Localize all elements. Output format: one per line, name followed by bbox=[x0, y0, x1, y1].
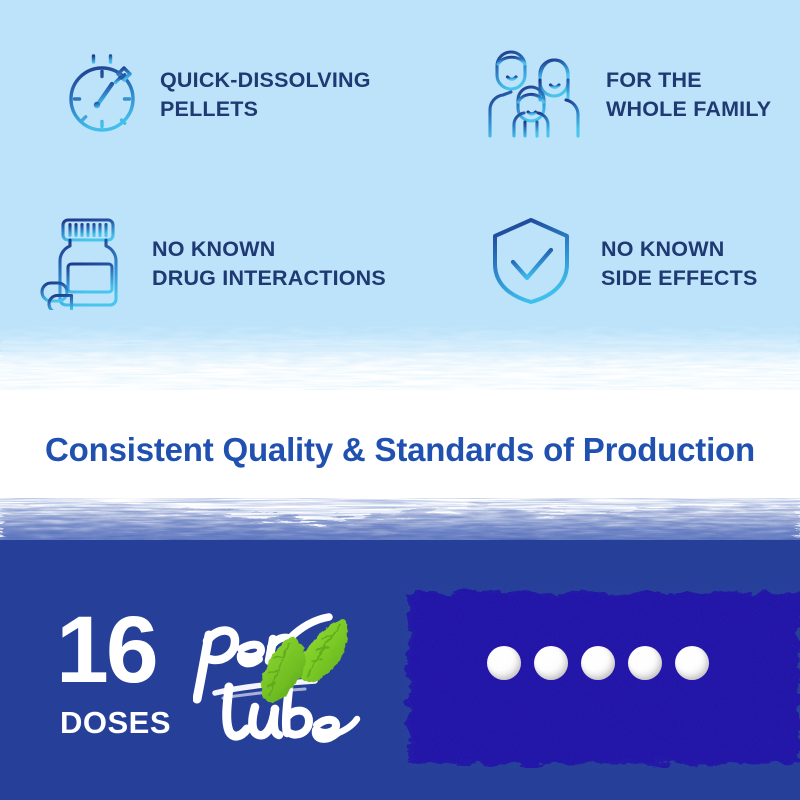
dose-word-label: DOSES bbox=[60, 705, 171, 741]
feature-drug-interactions: NO KNOWN DRUG INTERACTIONS bbox=[36, 212, 386, 315]
feature-label: FOR THE WHOLE FAMILY bbox=[606, 66, 771, 123]
pellet bbox=[487, 646, 521, 680]
shield-check-icon bbox=[489, 214, 573, 313]
leaf-icon bbox=[255, 615, 351, 707]
feature-label: NO KNOWN DRUG INTERACTIONS bbox=[152, 235, 386, 292]
family-icon bbox=[484, 44, 584, 145]
feature-label: NO KNOWN SIDE EFFECTS bbox=[601, 235, 758, 292]
feature-label: QUICK-DISSOLVING PELLETS bbox=[160, 66, 371, 123]
features-panel: QUICK-DISSOLVING PELLETS bbox=[0, 0, 800, 352]
pellet bbox=[534, 646, 568, 680]
dose-block: 16 DOSES bbox=[56, 605, 396, 755]
dose-count: 16 bbox=[56, 605, 156, 695]
pellet bbox=[628, 646, 662, 680]
watercolor-edge-top bbox=[0, 326, 800, 406]
stopwatch-icon bbox=[46, 44, 138, 145]
pellet-row bbox=[487, 646, 709, 680]
feature-side-effects: NO KNOWN SIDE EFFECTS bbox=[489, 214, 758, 313]
infographic-page: QUICK-DISSOLVING PELLETS bbox=[0, 0, 800, 800]
pill-bottle-icon bbox=[36, 212, 126, 315]
feature-quick-dissolving: QUICK-DISSOLVING PELLETS bbox=[46, 44, 371, 145]
page-headline: Consistent Quality & Standards of Produc… bbox=[0, 431, 800, 469]
pellet bbox=[581, 646, 615, 680]
feature-whole-family: FOR THE WHOLE FAMILY bbox=[484, 44, 771, 145]
pellet bbox=[675, 646, 709, 680]
